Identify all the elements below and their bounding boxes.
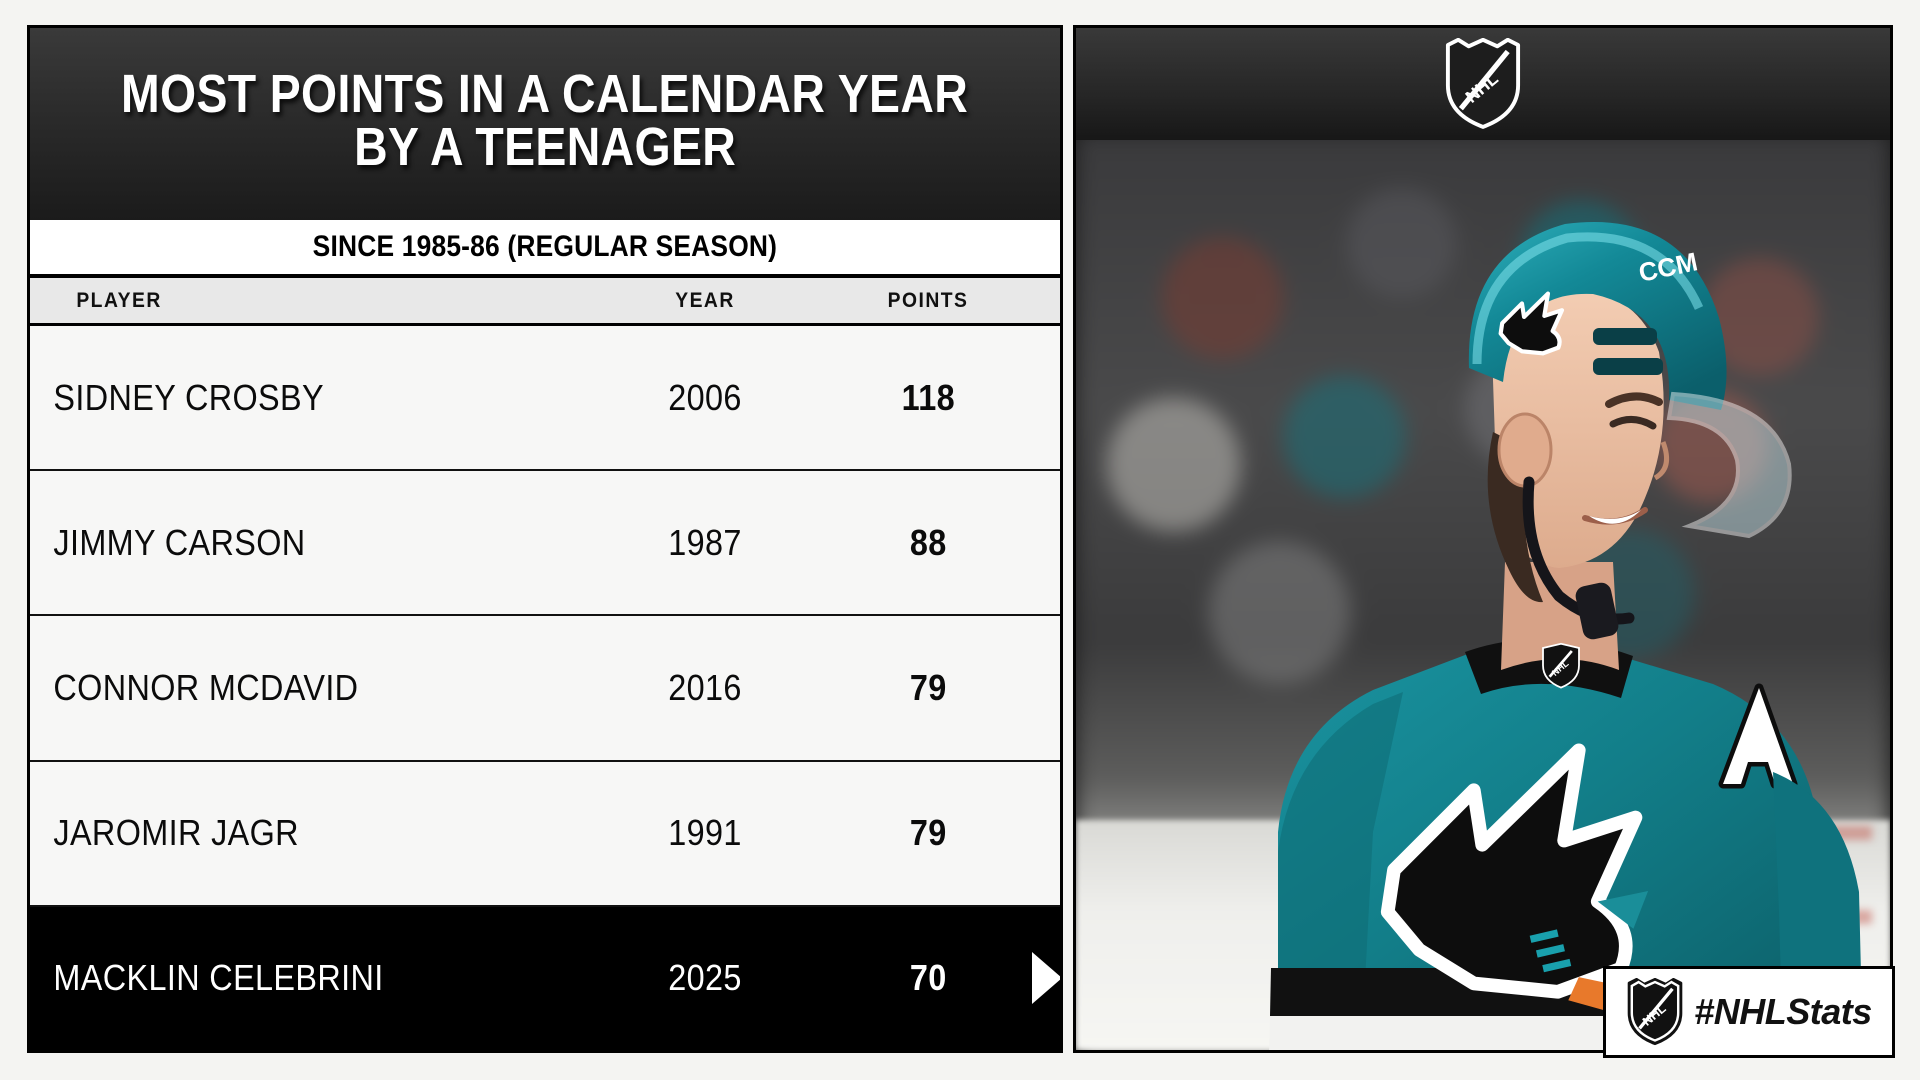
stats-table-panel: MOST POINTS IN A CALENDAR YEAR BY A TEEN… <box>27 25 1063 1053</box>
subtitle-text: SINCE 1985-86 (REGULAR SEASON) <box>313 230 777 264</box>
cell-year: 2025 <box>602 957 809 999</box>
cell-player: CONNOR MCDAVID <box>30 667 534 709</box>
cell-points: 88 <box>832 522 1048 564</box>
column-header-player: PLAYER <box>52 289 567 313</box>
nhl-stats-logo-text: #NHLStats <box>1694 991 1872 1033</box>
highlight-arrow-icon <box>1032 952 1062 1004</box>
cell-player: JIMMY CARSON <box>30 522 534 564</box>
cell-points: 79 <box>832 667 1048 709</box>
nhl-shield-icon: NHL <box>1626 978 1684 1046</box>
table-row[interactable]: JAROMIR JAGR 1991 79 <box>30 762 1060 907</box>
page-title-line-2: BY A TEENAGER <box>354 121 736 174</box>
photo-header-bar: NHL <box>1076 28 1890 140</box>
table-column-header: PLAYER YEAR POINTS <box>30 278 1060 326</box>
nhl-stats-logo-box: NHL #NHLStats <box>1603 966 1895 1058</box>
cell-points: 118 <box>832 377 1048 419</box>
cell-year: 1991 <box>602 812 809 854</box>
cell-points: 70 <box>832 957 1048 999</box>
cell-player: MACKLIN CELEBRINI <box>30 957 534 999</box>
player-photo: NHL <box>1076 132 1890 1053</box>
table-row[interactable]: JIMMY CARSON 1987 88 <box>30 471 1060 616</box>
table-row-highlighted[interactable]: MACKLIN CELEBRINI 2025 70 <box>30 907 1060 1050</box>
title-block: MOST POINTS IN A CALENDAR YEAR BY A TEEN… <box>30 28 1060 220</box>
table-row[interactable]: SIDNEY CROSBY 2006 118 <box>30 326 1060 471</box>
column-header-year: YEAR <box>599 289 811 313</box>
cell-player: SIDNEY CROSBY <box>30 377 534 419</box>
player-photo-panel: NHL <box>1073 25 1893 1053</box>
cell-player: JAROMIR JAGR <box>30 812 534 854</box>
nhl-shield-icon: NHL <box>1444 38 1522 130</box>
cell-year: 1987 <box>602 522 809 564</box>
cell-year: 2016 <box>602 667 809 709</box>
table-row[interactable]: CONNOR MCDAVID 2016 79 <box>30 616 1060 761</box>
graphic-canvas: MOST POINTS IN A CALENDAR YEAR BY A TEEN… <box>0 0 1920 1080</box>
column-header-points: POINTS <box>830 289 1051 313</box>
table-body: SIDNEY CROSBY 2006 118 JIMMY CARSON 1987… <box>30 326 1060 1050</box>
subtitle-band: SINCE 1985-86 (REGULAR SEASON) <box>30 220 1060 278</box>
cell-points: 79 <box>832 812 1048 854</box>
cell-year: 2006 <box>602 377 809 419</box>
page-title-line-1: MOST POINTS IN A CALENDAR YEAR <box>121 68 968 121</box>
